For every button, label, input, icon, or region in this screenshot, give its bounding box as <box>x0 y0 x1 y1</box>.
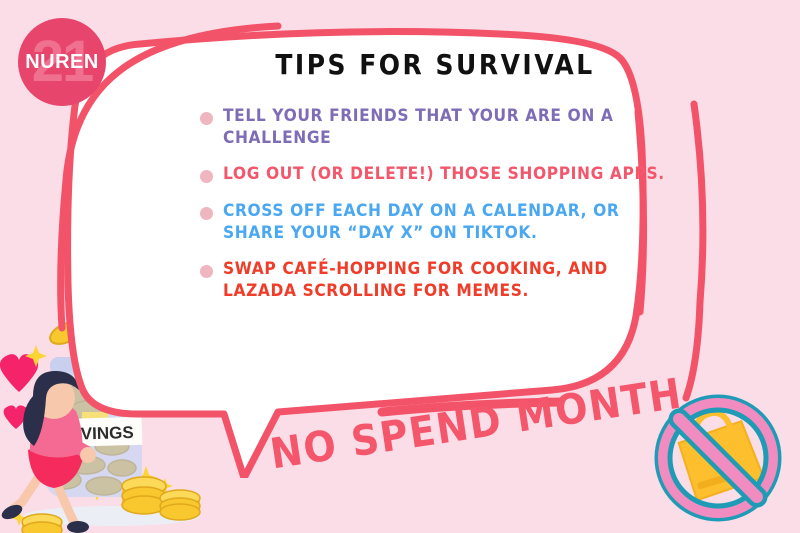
list-item: TELL YOUR FRIENDS THAT YOUR ARE ON A CHA… <box>200 105 670 146</box>
tips-list: TELL YOUR FRIENDS THAT YOUR ARE ON A CHA… <box>200 105 670 299</box>
bullet-icon <box>200 112 213 125</box>
bubble-content: TIPS FOR SURVIVAL TELL YOUR FRIENDS THAT… <box>200 50 670 316</box>
nuren-logo: 21 NUREN <box>18 18 106 106</box>
list-item: CROSS OFF EACH DAY ON A CALENDAR, OR SHA… <box>200 200 670 241</box>
logo-text: NUREN <box>25 51 99 74</box>
bullet-icon <box>200 170 213 183</box>
page-title: TIPS FOR SURVIVAL <box>200 48 670 80</box>
tip-text-4: SWAP CAFÉ-HOPPING FOR COOKING, AND LAZAD… <box>223 258 670 302</box>
tip-text-2: LOG OUT (OR DELETE!) THOSE SHOPPING APPS… <box>223 163 665 185</box>
no-shopping-bag-icon <box>648 388 788 532</box>
poster-canvas: SAVINGS <box>0 0 800 533</box>
bullet-icon <box>200 265 213 278</box>
tip-text-1: TELL YOUR FRIENDS THAT YOUR ARE ON A CHA… <box>223 105 670 149</box>
tip-text-3: CROSS OFF EACH DAY ON A CALENDAR, OR SHA… <box>223 200 670 244</box>
list-item: LOG OUT (OR DELETE!) THOSE SHOPPING APPS… <box>200 163 670 183</box>
bullet-icon <box>200 207 213 220</box>
list-item: SWAP CAFÉ-HOPPING FOR COOKING, AND LAZAD… <box>200 258 670 299</box>
